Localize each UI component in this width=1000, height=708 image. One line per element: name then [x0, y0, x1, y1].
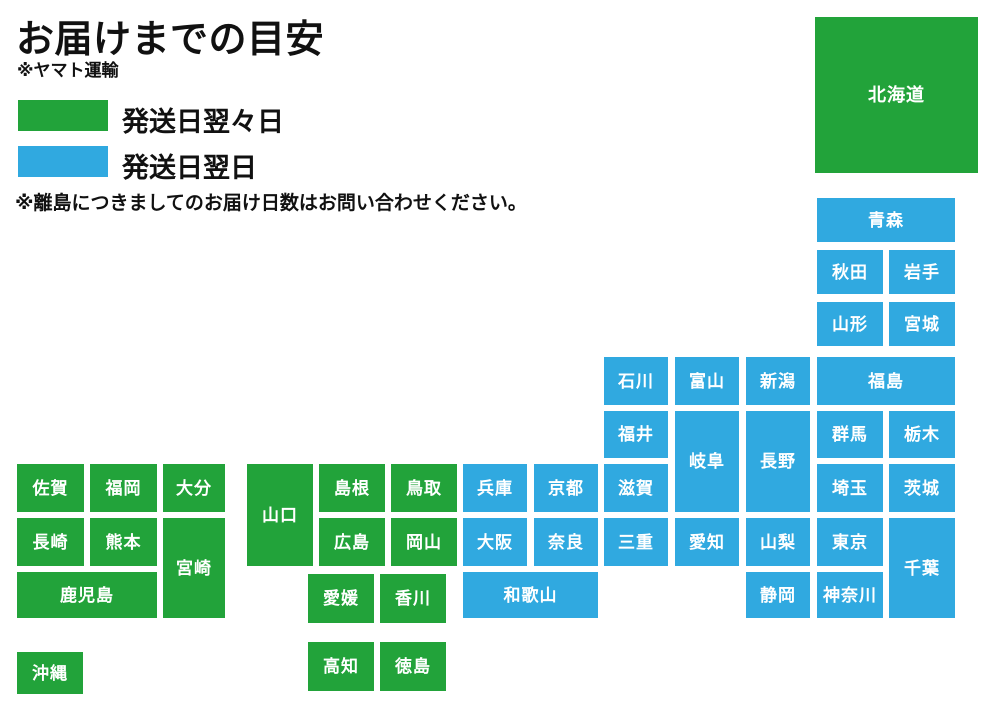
- prefecture-tile-kanagawa: 神奈川: [815, 570, 885, 620]
- prefecture-tile-hiroshima: 広島: [317, 516, 387, 568]
- prefecture-label: 福島: [868, 373, 904, 390]
- prefecture-tile-shizuoka: 静岡: [744, 570, 812, 620]
- delivery-map-page: お届けまでの目安 ※ヤマト運輸 発送日翌々日 発送日翌日 ※離島につきましてのお…: [0, 0, 1000, 708]
- prefecture-label: 沖縄: [32, 665, 68, 682]
- prefecture-tile-miyazaki: 宮崎: [161, 516, 227, 620]
- prefecture-tile-fukushima: 福島: [815, 355, 957, 407]
- prefecture-label: 石川: [618, 373, 654, 390]
- prefecture-tile-hyogo: 兵庫: [461, 462, 529, 514]
- prefecture-label: 広島: [334, 534, 370, 551]
- prefecture-tile-hokkaido: 北海道: [813, 15, 980, 175]
- prefecture-tile-kyoto: 京都: [532, 462, 600, 514]
- prefecture-tile-shiga: 滋賀: [602, 462, 670, 514]
- prefecture-label: 茨城: [904, 480, 940, 497]
- legend-label-two-day: 発送日翌々日: [122, 100, 284, 139]
- prefecture-tile-chiba: 千葉: [887, 516, 957, 620]
- carrier-note: ※ヤマト運輸: [17, 56, 119, 81]
- prefecture-label: 北海道: [868, 86, 925, 104]
- prefecture-tile-gifu: 岐阜: [673, 409, 741, 514]
- prefecture-label: 岡山: [406, 534, 442, 551]
- prefecture-label: 山梨: [760, 534, 796, 551]
- prefecture-label: 宮城: [904, 316, 940, 333]
- prefecture-label: 愛媛: [323, 590, 359, 607]
- prefecture-label: 埼玉: [832, 480, 868, 497]
- legend-swatch-next-day: [18, 146, 108, 177]
- prefecture-tile-oita: 大分: [161, 462, 227, 514]
- prefecture-tile-niigata: 新潟: [744, 355, 812, 407]
- prefecture-label: 新潟: [760, 373, 796, 390]
- prefecture-label: 福岡: [106, 480, 142, 497]
- prefecture-tile-nagasaki: 長崎: [15, 516, 86, 568]
- prefecture-tile-aomori: 青森: [815, 196, 957, 244]
- prefecture-label: 三重: [618, 534, 654, 551]
- island-note: ※離島につきましてのお届け日数はお問い合わせください。: [15, 188, 527, 215]
- prefecture-label: 兵庫: [477, 480, 513, 497]
- prefecture-label: 岐阜: [689, 453, 725, 470]
- prefecture-label: 高知: [323, 658, 359, 675]
- prefecture-label: 大阪: [477, 534, 513, 551]
- prefecture-tile-tochigi: 栃木: [887, 409, 957, 460]
- prefecture-tile-tokushima: 徳島: [378, 640, 448, 693]
- prefecture-tile-gunma: 群馬: [815, 409, 885, 460]
- prefecture-tile-kagoshima: 鹿児島: [15, 570, 159, 620]
- prefecture-tile-yamaguchi: 山口: [245, 462, 315, 568]
- prefecture-label: 佐賀: [33, 480, 69, 497]
- legend-swatch-two-day: [18, 100, 108, 131]
- prefecture-label: 大分: [176, 480, 212, 497]
- prefecture-tile-fukui: 福井: [602, 409, 670, 460]
- prefecture-tile-shimane: 島根: [317, 462, 387, 514]
- prefecture-label: 香川: [395, 590, 431, 607]
- prefecture-tile-yamagata: 山形: [815, 300, 885, 348]
- prefecture-label: 富山: [689, 373, 725, 390]
- prefecture-label: 山口: [262, 507, 298, 524]
- prefecture-label: 山形: [832, 316, 868, 333]
- prefecture-label: 群馬: [832, 426, 868, 443]
- prefecture-tile-akita: 秋田: [815, 248, 885, 296]
- prefecture-tile-fukuoka: 福岡: [88, 462, 159, 514]
- prefecture-tile-yamanashi: 山梨: [744, 516, 812, 568]
- prefecture-tile-okinawa: 沖縄: [15, 650, 85, 696]
- prefecture-tile-kagawa: 香川: [378, 572, 448, 625]
- prefecture-label: 宮崎: [176, 560, 212, 577]
- prefecture-label: 青森: [868, 212, 904, 229]
- prefecture-label: 熊本: [106, 534, 142, 551]
- prefecture-tile-saitama: 埼玉: [815, 462, 885, 514]
- prefecture-label: 長野: [760, 453, 796, 470]
- prefecture-tile-kochi: 高知: [306, 640, 376, 693]
- prefecture-label: 鳥取: [406, 480, 442, 497]
- prefecture-tile-tottori: 鳥取: [389, 462, 459, 514]
- prefecture-tile-ehime: 愛媛: [306, 572, 376, 625]
- prefecture-label: 神奈川: [823, 587, 877, 604]
- prefecture-tile-osaka: 大阪: [461, 516, 529, 568]
- prefecture-tile-ibaraki: 茨城: [887, 462, 957, 514]
- prefecture-label: 静岡: [760, 587, 796, 604]
- prefecture-tile-miyagi: 宮城: [887, 300, 957, 348]
- prefecture-label: 愛知: [689, 534, 725, 551]
- prefecture-tile-kumamoto: 熊本: [88, 516, 159, 568]
- prefecture-label: 和歌山: [504, 587, 558, 604]
- prefecture-label: 福井: [618, 426, 654, 443]
- prefecture-label: 秋田: [832, 264, 868, 281]
- prefecture-tile-nara: 奈良: [532, 516, 600, 568]
- prefecture-label: 鹿児島: [60, 587, 114, 604]
- prefecture-label: 千葉: [904, 560, 940, 577]
- legend-label-next-day: 発送日翌日: [122, 146, 257, 185]
- prefecture-label: 岩手: [904, 264, 940, 281]
- prefecture-tile-tokyo: 東京: [815, 516, 885, 568]
- prefecture-tile-aichi: 愛知: [673, 516, 741, 568]
- prefecture-tile-wakayama: 和歌山: [461, 570, 600, 620]
- prefecture-tile-ishikawa: 石川: [602, 355, 670, 407]
- prefecture-tile-saga: 佐賀: [15, 462, 86, 514]
- prefecture-tile-toyama: 富山: [673, 355, 741, 407]
- prefecture-tile-okayama: 岡山: [389, 516, 459, 568]
- prefecture-tile-nagano: 長野: [744, 409, 812, 514]
- prefecture-label: 徳島: [395, 658, 431, 675]
- prefecture-label: 滋賀: [618, 480, 654, 497]
- prefecture-tile-mie: 三重: [602, 516, 670, 568]
- prefecture-label: 京都: [548, 480, 584, 497]
- page-title: お届けまでの目安: [16, 8, 324, 63]
- prefecture-label: 奈良: [548, 534, 584, 551]
- prefecture-tile-iwate: 岩手: [887, 248, 957, 296]
- prefecture-label: 島根: [334, 480, 370, 497]
- prefecture-label: 栃木: [904, 426, 940, 443]
- prefecture-label: 東京: [832, 534, 868, 551]
- prefecture-label: 長崎: [33, 534, 69, 551]
